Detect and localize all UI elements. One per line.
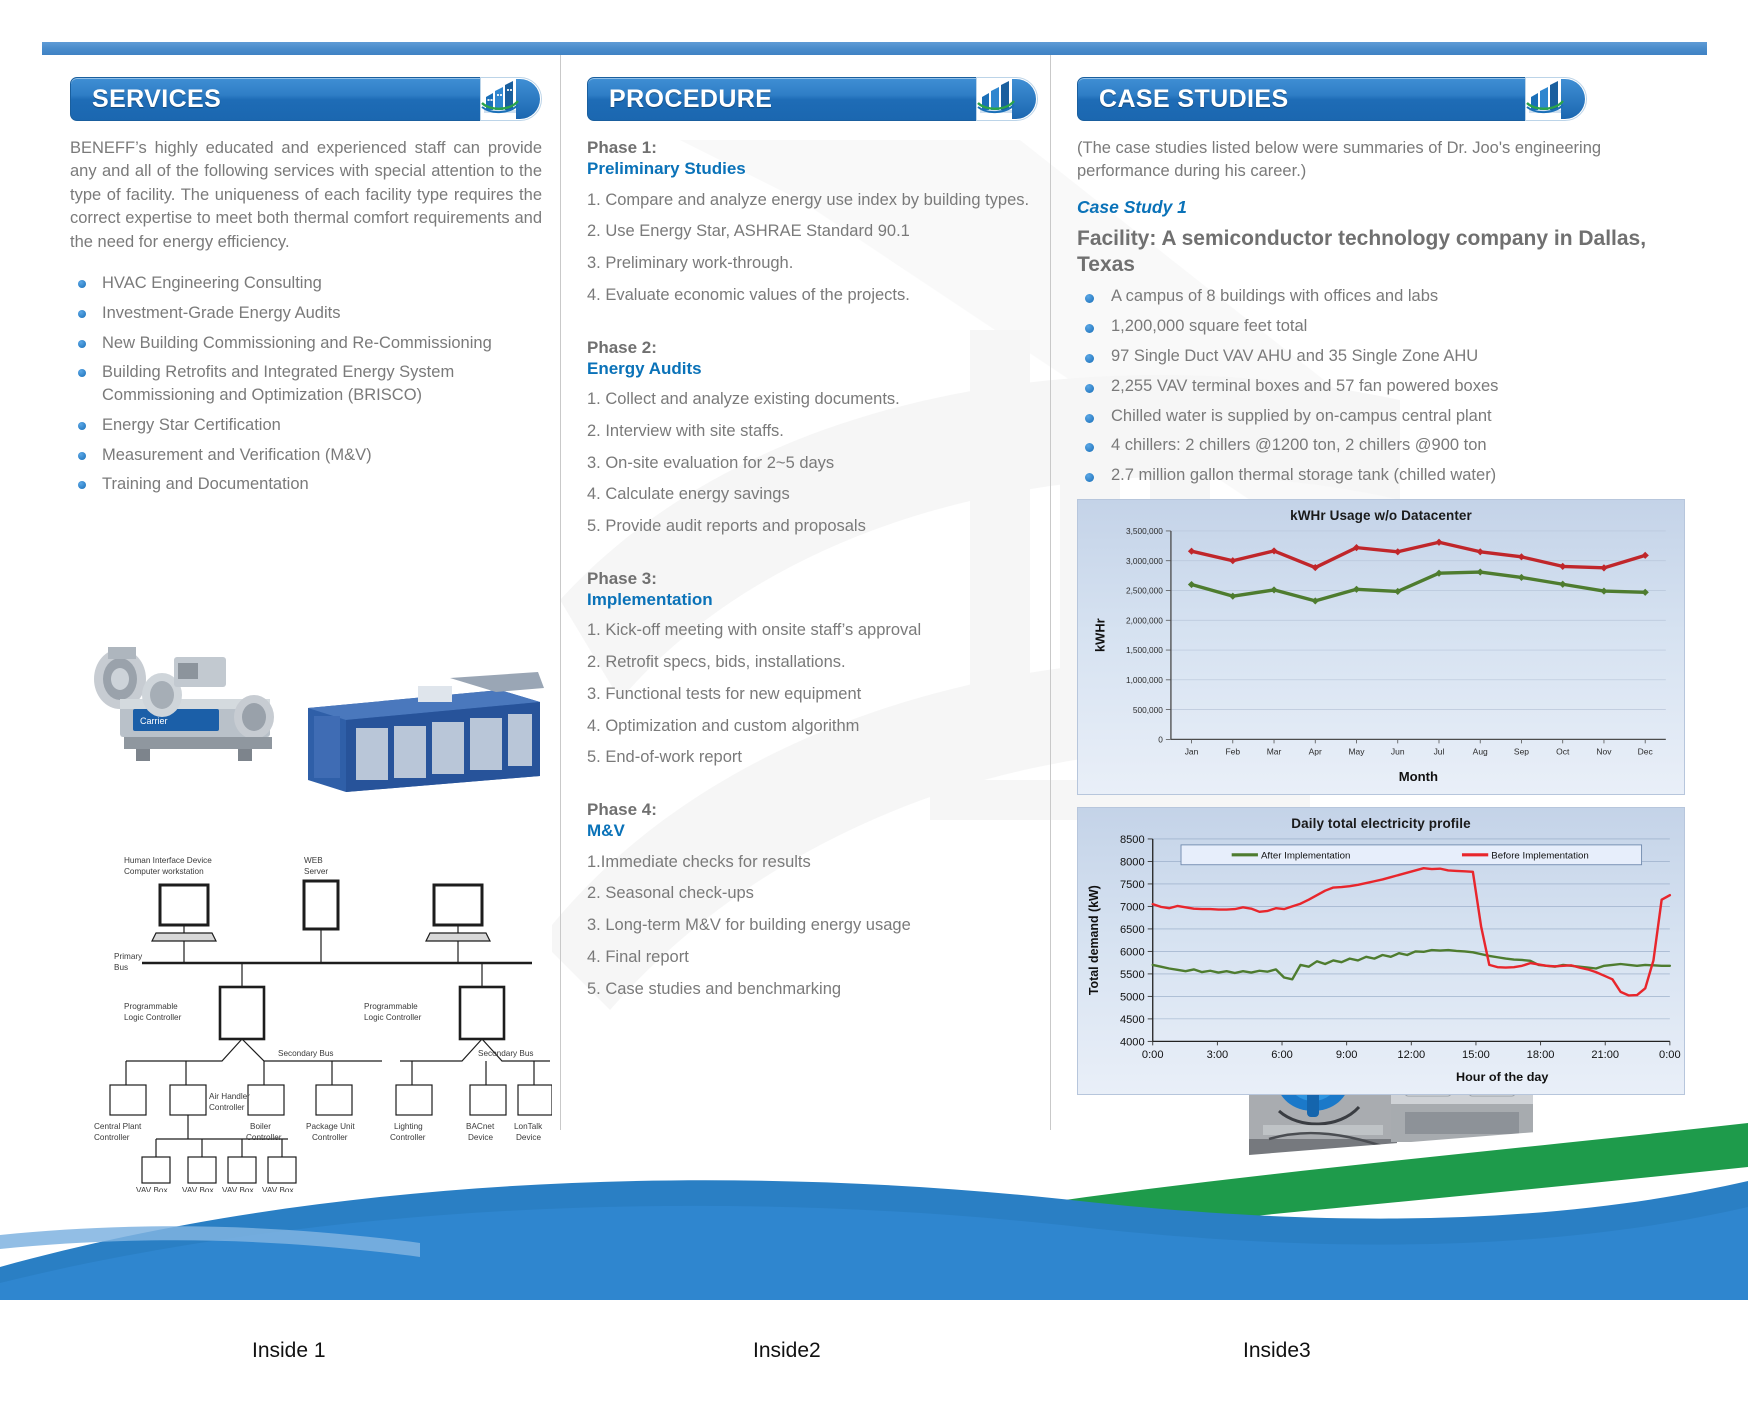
chart-1-ytick: 2,000,000 [1126,616,1163,625]
chart-1-xtick: Oct [1556,746,1570,756]
chart-2-ytick: 8000 [1120,856,1145,868]
footer-captions: Inside 1 Inside2 Inside3 [0,1339,1748,1379]
chart-1-plot: 0500,0001,000,0001,500,0002,000,0002,500… [1078,523,1684,791]
chart-1-ytick: 3,000,000 [1126,557,1163,566]
phase-4-steps: 1.Immediate checks for results 2. Season… [587,852,1036,1001]
building-logo-icon [1525,81,1565,117]
list-item: Measurement and Verification (M&V) [76,444,542,467]
chart-2-plot: 4000450050005500600065007000750080008500… [1078,831,1684,1091]
list-item: 2. Interview with site staffs. [587,421,1036,443]
chart-1-ylabel: kWHr [1092,618,1107,652]
chart-2-xtick: 18:00 [1527,1049,1555,1061]
chart-1-ytick: 500,000 [1133,706,1163,715]
chart-2-ylabel: Total demand (kW) [1087,885,1101,995]
list-item: Investment-Grade Energy Audits [76,302,542,325]
phase-2-title: Phase 2: [587,337,1036,358]
phase-1-block: Phase 1: Preliminary Studies 1. Compare … [587,137,1036,307]
phase-3-title: Phase 3: [587,568,1036,589]
chart-2-xtick: 15:00 [1462,1049,1490,1061]
list-item: 5. Provide audit reports and proposals [587,516,1036,538]
list-item: 2.7 million gallon thermal storage tank … [1083,465,1691,487]
chart-2-ytick: 5000 [1120,991,1145,1003]
list-item: 3. On-site evaluation for 2~5 days [587,453,1036,475]
list-item: Chilled water is supplied by on-campus c… [1083,406,1691,428]
chart-2-legend-item: After Implementation [1261,850,1350,861]
chart-1-xtick: Dec [1638,746,1653,756]
chart-1-xtick: Mar [1267,746,1282,756]
list-item: 4. Optimization and custom algorithm [587,716,1036,738]
diagram-label-secondarybus-right: Secondary Bus [478,1049,534,1058]
list-item: 2. Use Energy Star, ASHRAE Standard 90.1 [587,221,1036,243]
list-item: 1. Kick-off meeting with onsite staff’s … [587,620,1036,642]
list-item: 2. Retrofit specs, bids, installations. [587,652,1036,674]
footer-wave-graphic [0,1115,1748,1300]
phase-2-subtitle: Energy Audits [587,358,1036,379]
list-item: 1.Immediate checks for results [587,852,1036,874]
list-item: A campus of 8 buildings with offices and… [1083,286,1691,308]
case-study-1-facts: A campus of 8 buildings with offices and… [1083,286,1691,486]
list-item: 1,200,000 square feet total [1083,316,1691,338]
chart-1-ytick: 3,500,000 [1126,527,1163,536]
chart-1-xtick: Jul [1434,746,1445,756]
chart-2-ytick: 5500 [1120,969,1145,981]
chart-1-xlabel: Month [1399,769,1438,784]
building-logo-icon [976,81,1016,117]
case-study-1-label: Case Study 1 [1077,197,1687,218]
phase-1-steps: 1. Compare and analyze energy use index … [587,190,1036,307]
case-studies-note: (The case studies listed below were summ… [1077,137,1687,183]
chart-1-xtick: May [1348,746,1365,756]
list-item: 3. Preliminary work-through. [587,253,1036,275]
services-header-label: SERVICES [92,77,221,121]
chart-2-xlabel: Hour of the day [1456,1070,1549,1084]
diagram-label-hid-1: Human Interface Device [124,856,212,865]
list-item: 3. Functional tests for new equipment [587,684,1036,706]
chart-1-xtick: Nov [1596,746,1612,756]
diagram-label-web-1: WEB [304,856,323,865]
chart-2-ytick: 6500 [1120,924,1145,936]
diagram-label-plc-left-1: Programmable [124,1002,178,1011]
list-item: 5. Case studies and benchmarking [587,979,1036,1001]
diagram-label-hid-2: Computer workstation [124,867,204,876]
panel-services: SERVICES [42,55,560,1130]
case-studies-header-label: CASE STUDIES [1099,77,1289,121]
diagram-label-ahu-1: Air Handler [209,1092,250,1101]
list-item: 2,255 VAV terminal boxes and 57 fan powe… [1083,376,1691,398]
diagram-label-primarybus-2: Bus [114,963,128,972]
chart-2-xtick: 0:00 [1659,1049,1681,1061]
top-accent-bar [42,42,1707,55]
list-item: 4. Calculate energy savings [587,484,1036,506]
case-study-1-facility: Facility: A semiconductor technology com… [1077,226,1687,279]
diagram-label-plc-left-2: Logic Controller [124,1013,182,1022]
chart-2-xtick: 21:00 [1591,1049,1619,1061]
list-item: 4. Final report [587,947,1036,969]
list-item: 1. Collect and analyze existing document… [587,389,1036,411]
chart-2-ytick: 7000 [1120,901,1145,913]
diagram-label-ahu-2: Controller [209,1103,245,1112]
phase-2-steps: 1. Collect and analyze existing document… [587,389,1036,538]
diagram-label-secondarybus-left: Secondary Bus [278,1049,334,1058]
list-item: 3. Long-term M&V for building energy usa… [587,915,1036,937]
procedure-section-header: PROCEDURE [587,77,1038,121]
chart-2-xtick: 3:00 [1207,1049,1229,1061]
chart-kwhr-usage: kWHr Usage w/o Datacenter 0500,0001,000,… [1077,499,1685,795]
chart-1-ytick: 0 [1158,735,1163,744]
list-item: 97 Single Duct VAV AHU and 35 Single Zon… [1083,346,1691,368]
list-item: 1. Compare and analyze energy use index … [587,190,1036,212]
chart-2-ytick: 6000 [1120,946,1145,958]
chart-1-ytick: 1,500,000 [1126,646,1163,655]
chart-2-ytick: 8500 [1120,834,1145,846]
caption-inside-2: Inside2 [753,1339,821,1363]
diagram-label-web-2: Server [304,867,328,876]
diagram-label-plc-right-1: Programmable [364,1002,418,1011]
procedure-header-label: PROCEDURE [609,77,772,121]
list-item: Energy Star Certification [76,414,542,437]
case-studies-section-header: CASE STUDIES [1077,77,1587,121]
air-handling-unit-photo [300,672,545,797]
services-intro-text: BENEFF’s highly educated and experienced… [70,137,542,254]
phase-4-subtitle: M&V [587,820,1036,841]
chart-2-legend-item: Before Implementation [1491,850,1589,861]
phase-1-title: Phase 1: [587,137,1036,158]
panel-case-studies: CASE STUDIES (The case studies listed be… [1050,55,1707,1130]
chart-2-ytick: 4000 [1120,1036,1145,1048]
chart-1-xtick: Jan [1185,746,1199,756]
building-logo-icon [480,81,520,117]
panel-procedure: PROCEDURE Phase 1: Prelimi [560,55,1050,1130]
phase-2-block: Phase 2: Energy Audits 1. Collect and an… [587,337,1036,538]
chart-1-xtick: Sep [1514,746,1529,756]
list-item: 4 chillers: 2 chillers @1200 ton, 2 chil… [1083,435,1691,457]
list-item: 5. End-of-work report [587,747,1036,769]
chart-2-xtick: 0:00 [1142,1049,1164,1061]
chart-2-ytick: 4500 [1120,1014,1145,1026]
list-item: Building Retrofits and Integrated Energy… [76,361,542,407]
chart-1-xtick: Apr [1309,746,1322,756]
brochure-page: SERVICES [0,0,1748,1405]
phase-4-title: Phase 4: [587,799,1036,820]
phase-3-subtitle: Implementation [587,589,1036,610]
chart-1-xtick: Jun [1391,746,1405,756]
list-item: HVAC Engineering Consulting [76,272,542,295]
services-list: HVAC Engineering Consulting Investment-G… [76,272,542,496]
diagram-label-primarybus-1: Primary [114,952,143,961]
centrifugal-chiller-photo: Carrier [78,637,293,767]
svg-text:Carrier: Carrier [140,716,168,726]
list-item: Training and Documentation [76,473,542,496]
list-item: 4. Evaluate economic values of the proje… [587,285,1036,307]
chart-2-ytick: 7500 [1120,879,1145,891]
phase-4-block: Phase 4: M&V 1.Immediate checks for resu… [587,799,1036,1000]
phase-1-subtitle: Preliminary Studies [587,158,1036,179]
list-item: New Building Commissioning and Re-Commis… [76,332,542,355]
caption-inside-1: Inside 1 [252,1339,326,1363]
chart-2-xtick: 9:00 [1336,1049,1358,1061]
chart-daily-profile: Daily total electricity profile 40004500… [1077,807,1685,1095]
services-section-header: SERVICES [70,77,542,121]
chart-2-xtick: 6:00 [1271,1049,1293,1061]
chart-1-ytick: 1,000,000 [1126,676,1163,685]
phase-3-block: Phase 3: Implementation 1. Kick-off meet… [587,568,1036,769]
list-item: 2. Seasonal check-ups [587,883,1036,905]
panels-container: SERVICES [42,55,1707,1130]
caption-inside-3: Inside3 [1243,1339,1311,1363]
chart-1-xtick: Feb [1225,746,1240,756]
chart-2-xtick: 12:00 [1397,1049,1425,1061]
chart-2-title: Daily total electricity profile [1078,808,1684,831]
chart-1-ytick: 2,500,000 [1126,587,1163,596]
diagram-label-plc-right-2: Logic Controller [364,1013,422,1022]
phase-3-steps: 1. Kick-off meeting with onsite staff’s … [587,620,1036,769]
chart-1-xtick: Aug [1473,746,1488,756]
chart-1-title: kWHr Usage w/o Datacenter [1078,500,1684,523]
